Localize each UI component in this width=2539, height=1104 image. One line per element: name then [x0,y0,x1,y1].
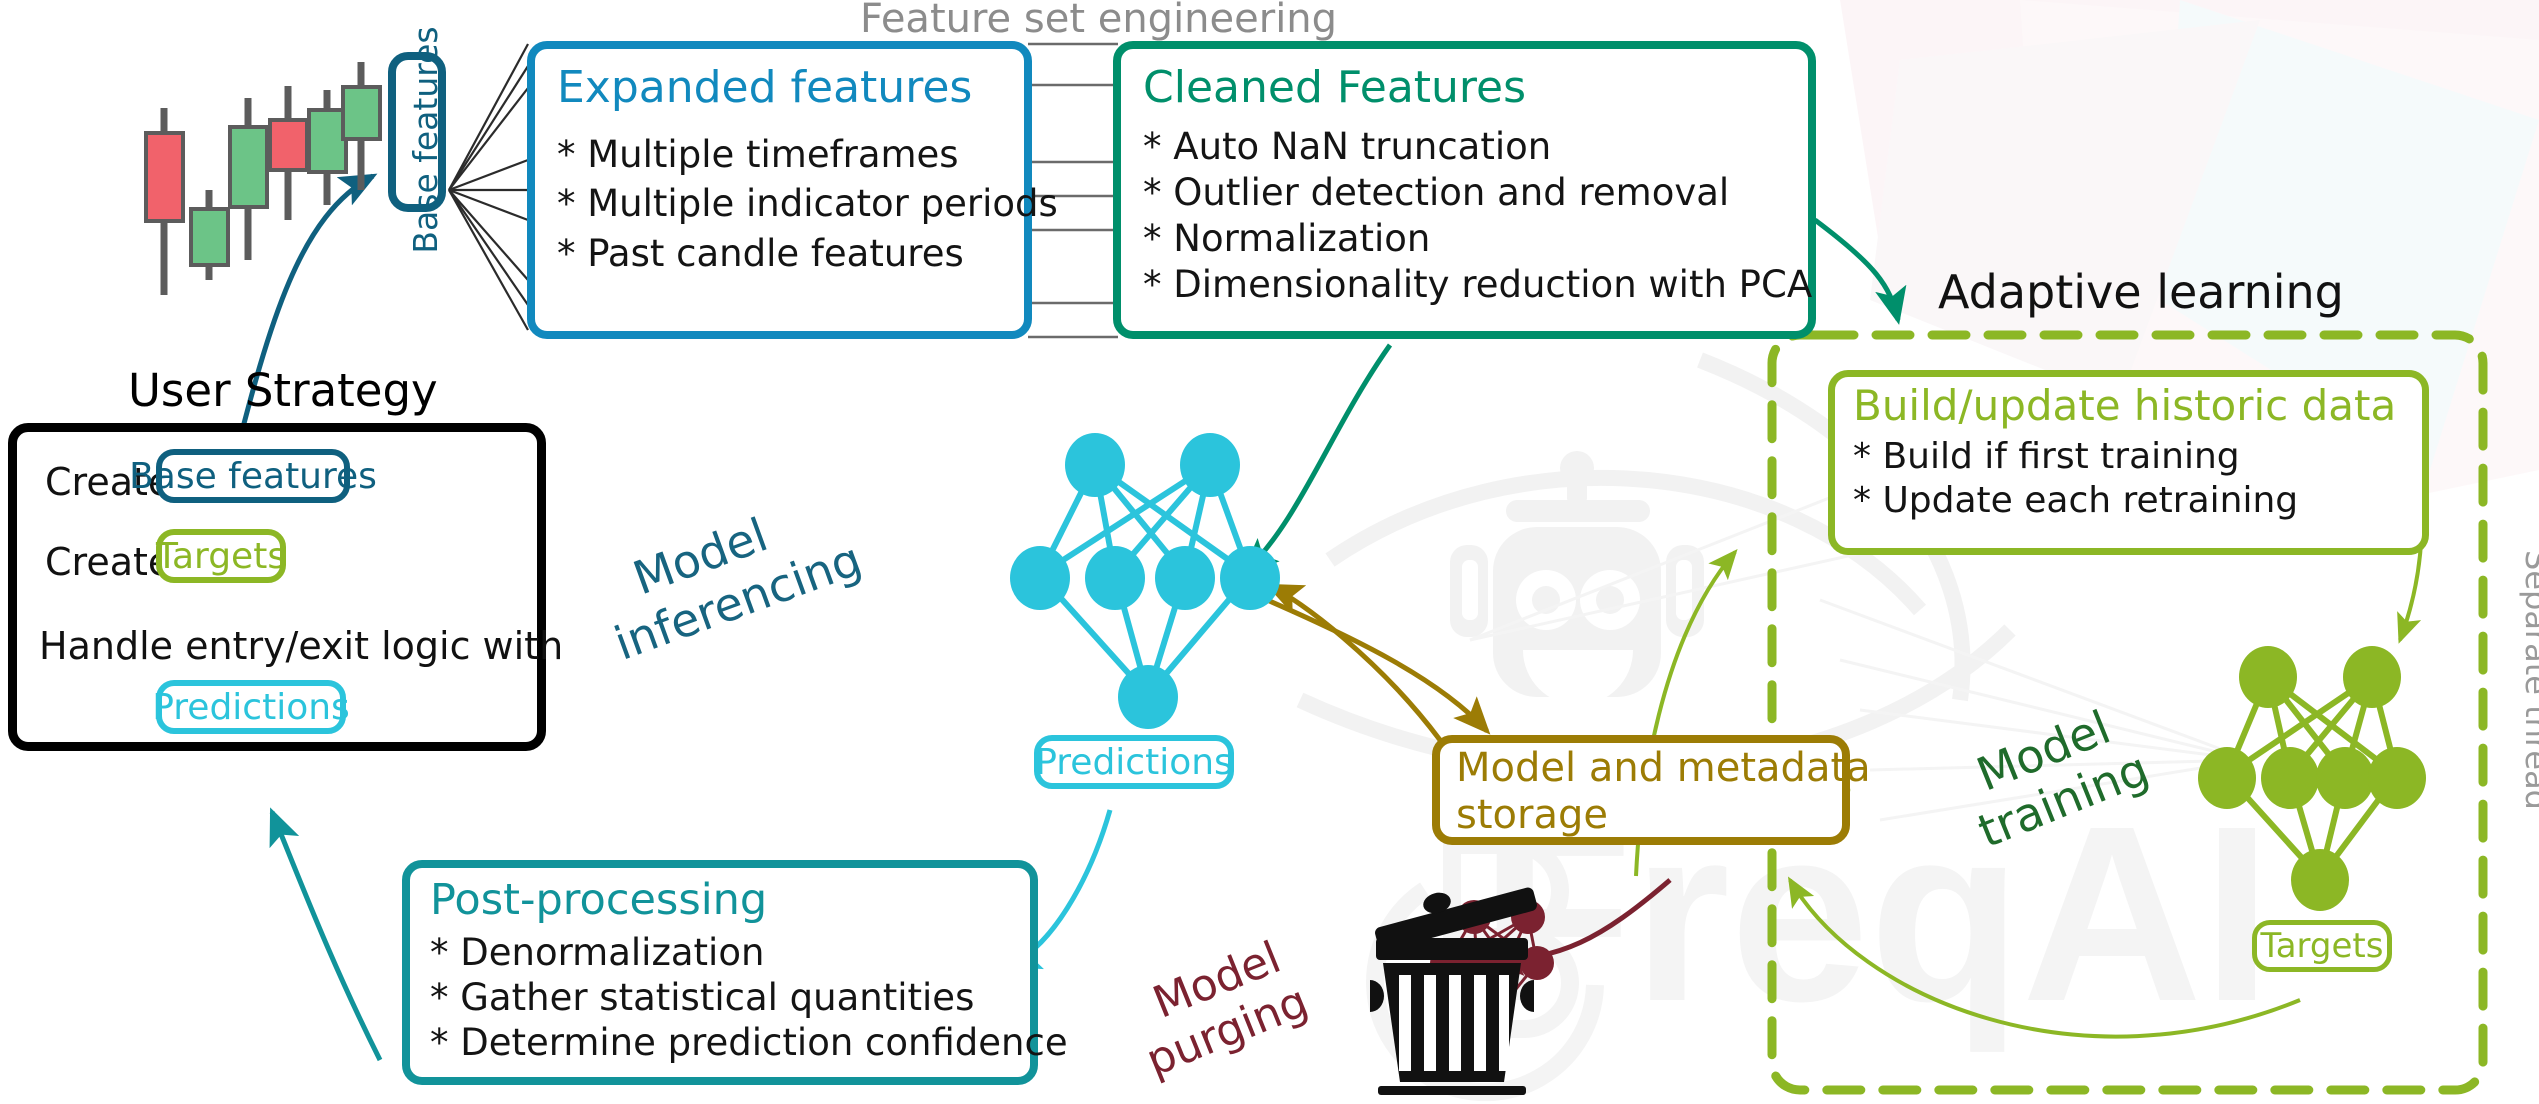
expanded-features-title: Expanded features [557,63,1002,112]
build-update-historic-data-box[interactable]: Build/update historic data * Build if fi… [1828,370,2429,555]
expanded-features-box[interactable]: Expanded features * Multiple timeframes … [527,41,1032,339]
cleaned-features-bullet: * Dimensionality reduction with PCA [1143,262,1786,308]
post-processing-bullet: * Gather statistical quantities [430,975,1010,1020]
base-features-tag[interactable]: Base features [388,52,446,212]
adaptive-learning-label: Adaptive learning [1938,265,2344,319]
user-strategy-targets-pill[interactable]: Targets [156,529,286,583]
user-strategy-title: User Strategy [128,364,438,417]
expanded-features-bullet: * Past candle features [557,229,1002,278]
feature-set-engineering-label: Feature set engineering [860,0,1337,42]
expanded-features-bullet: * Multiple indicator periods [557,179,1002,228]
build-update-title: Build/update historic data [1853,381,2404,431]
diagram-canvas: FreqAI [0,0,2539,1104]
model-metadata-storage-box[interactable]: Model and metadata storage [1432,735,1850,845]
user-strategy-row2-prefix: Create [45,540,171,584]
build-update-bullet: * Update each retraining [1853,479,2404,522]
user-strategy-box[interactable]: Create Base features Create Targets Hand… [8,423,546,751]
user-strategy-row3-text: Handle entry/exit logic with [39,624,563,668]
user-strategy-predictions-pill[interactable]: Predictions [156,680,346,734]
separate-thread-label: Separate thread [2516,535,2539,825]
storage-line2: storage [1456,792,1826,839]
cleaned-features-bullet: * Auto NaN truncation [1143,124,1786,170]
user-strategy-base-features-pill[interactable]: Base features [156,449,350,503]
post-processing-title: Post-processing [430,876,1010,924]
post-processing-bullet: * Determine prediction confidence [430,1020,1010,1065]
base-features-tag-label: Base features [396,60,454,220]
storage-line1: Model and metadata [1456,745,1826,792]
cleaned-features-bullet: * Normalization [1143,216,1786,262]
post-processing-box[interactable]: Post-processing * Denormalization * Gath… [402,860,1038,1085]
predictions-pill[interactable]: Predictions [1034,735,1234,789]
cleaned-features-title: Cleaned Features [1143,63,1786,112]
post-processing-bullet: * Denormalization [430,930,1010,975]
cleaned-features-box[interactable]: Cleaned Features * Auto NaN truncation *… [1113,41,1816,339]
cleaned-features-bullet: * Outlier detection and removal [1143,170,1786,216]
expanded-features-bullet: * Multiple timeframes [557,130,1002,179]
targets-pill[interactable]: Targets [2252,920,2392,972]
build-update-bullet: * Build if first training [1853,435,2404,478]
